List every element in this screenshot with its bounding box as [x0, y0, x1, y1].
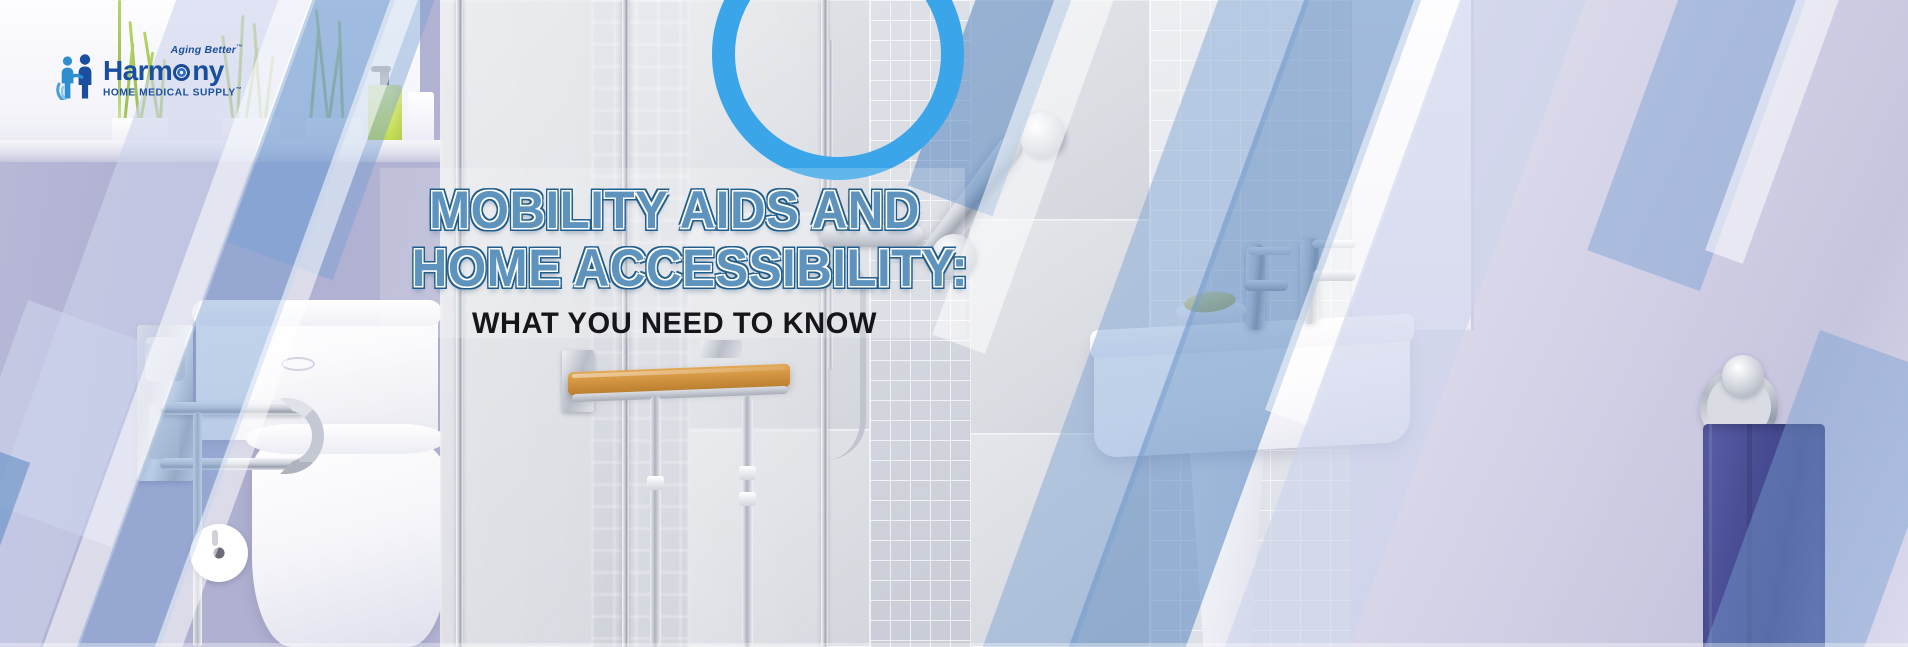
- logo-tagline: Aging Better™: [171, 44, 243, 56]
- two-people-caring-icon: [56, 54, 98, 100]
- subheadline: WHAT YOU NEED TO KNOW: [400, 307, 948, 341]
- headline-line-1: MOBILITY AIDS AND: [412, 182, 937, 240]
- headline-block: MOBILITY AIDS AND HOME ACCESSIBILITY: WH…: [392, 182, 957, 341]
- logo-subtitle: HOME MEDICAL SUPPLY™: [103, 84, 242, 99]
- bath-bottle: [408, 92, 434, 147]
- headline-line-2: HOME ACCESSIBILITY:: [412, 240, 937, 298]
- logo-o-emblem-icon: o: [172, 57, 192, 84]
- brand-logo[interactable]: Aging Better™ Harmony HOME MEDICAL SUPPL…: [56, 54, 242, 100]
- logo-brand-name: Harmony: [103, 57, 242, 84]
- promo-banner: MOBILITY AIDS AND HOME ACCESSIBILITY: WH…: [0, 0, 1908, 647]
- logo-text: Aging Better™ Harmony HOME MEDICAL SUPPL…: [103, 57, 242, 100]
- bottom-edge: [0, 643, 1908, 647]
- page-title: MOBILITY AIDS AND HOME ACCESSIBILITY:: [412, 182, 937, 298]
